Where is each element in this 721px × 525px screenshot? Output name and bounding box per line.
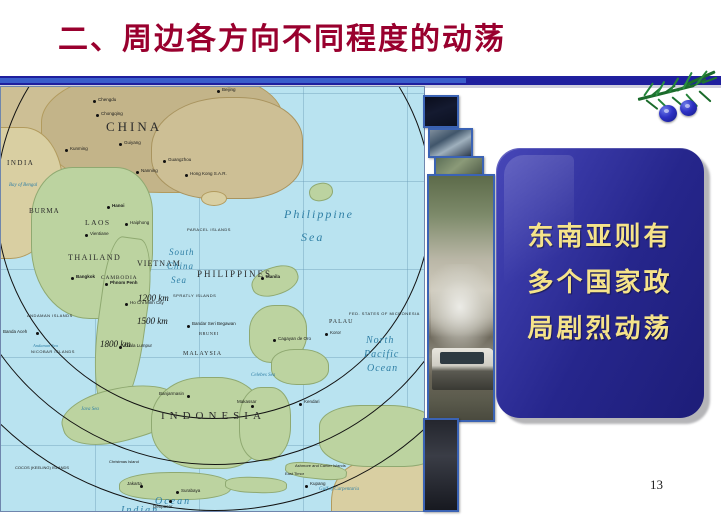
vehicle-window <box>440 352 484 364</box>
city-dot <box>71 277 74 280</box>
city-label: Makassar <box>237 399 257 404</box>
city-dot <box>185 174 188 177</box>
range-ring-1800km <box>0 86 425 511</box>
city-dot <box>107 206 110 209</box>
photo-thumbnail-1[interactable] <box>423 95 459 128</box>
city-dot <box>96 114 99 117</box>
city-dot <box>217 90 220 93</box>
sea-label-pacific: Pacific <box>364 349 399 360</box>
sea-label-andaman: Andaman Sea <box>33 343 58 348</box>
city-label: Guangzhou <box>168 157 191 162</box>
vehicle-region <box>432 348 494 390</box>
city-dot <box>187 395 190 398</box>
smoke-region <box>431 264 495 350</box>
city-dot <box>305 485 308 488</box>
island-label-paracel: PARACEL ISLANDS <box>187 227 231 232</box>
island-label-christmas: Christmas Island <box>109 459 139 464</box>
bauble-icon <box>680 100 697 116</box>
sea-label-carpentaria: Gulf of Carpentaria <box>319 487 359 492</box>
island-label-micronesia: FED. STATES OF MICRONESIA <box>349 311 420 316</box>
city-dot <box>273 339 276 342</box>
city-label: Bandar Seri Begawan <box>192 321 236 326</box>
bauble-icon <box>659 105 677 122</box>
sea-label-north: North <box>366 335 394 346</box>
photo-main-unrest[interactable] <box>427 174 495 422</box>
ring-label-1500: 1500 km <box>137 316 168 326</box>
city-dot <box>325 333 328 336</box>
island-label-spratly: SPRATLY ISLANDS <box>173 293 216 298</box>
city-label: Kendari <box>304 399 320 404</box>
callout-line-1: 东南亚则有 <box>527 214 672 260</box>
callout-line-3: 局剧烈动荡 <box>527 306 672 352</box>
city-dot <box>261 277 264 280</box>
city-label: Bangkok <box>76 274 95 279</box>
city-dot <box>119 143 122 146</box>
sea-label-philippine-2: Sea <box>301 230 324 245</box>
sea-label-celebes: Celebes Sea <box>251 373 275 378</box>
needle <box>645 99 658 110</box>
sea-label-sea: Sea <box>171 275 187 285</box>
city-dot <box>176 491 179 494</box>
city-dot <box>187 325 190 328</box>
page-title: 二、周边各方向不同程度的动荡 <box>0 6 721 66</box>
city-dot <box>125 223 128 226</box>
city-dot <box>93 100 96 103</box>
island-label-ashmore: Ashmore and Cartier Islands <box>295 463 346 468</box>
city-dot <box>136 171 139 174</box>
pine-branch-icon <box>636 78 721 136</box>
sea-label-ocean: Ocean <box>367 363 398 374</box>
sea-label-philippine-1: Philippine <box>284 207 354 222</box>
city-dot <box>169 500 172 503</box>
city-label: Jakarta <box>127 481 142 486</box>
sea-label-java: Java Sea <box>81 407 99 412</box>
island-label-east-timor: East Timor <box>285 471 304 476</box>
city-dot <box>251 405 254 408</box>
callout-box: 东南亚则有 多个国家政 局剧烈动荡 <box>496 148 704 418</box>
city-label: Vientiane <box>90 231 109 236</box>
city-label: Kupang <box>310 481 326 486</box>
accent-bar-light <box>0 78 466 83</box>
city-label: Hanoi <box>112 203 125 208</box>
sea-label-south: South <box>169 247 195 257</box>
city-dot <box>163 160 166 163</box>
city-label: Manila <box>266 274 280 279</box>
city-label: Banda Aceh <box>3 329 27 334</box>
callout-line-2: 多个国家政 <box>527 260 672 306</box>
city-label: Chengdu <box>98 97 116 102</box>
city-label: Chongqing <box>101 111 123 116</box>
city-dot <box>85 234 88 237</box>
sea-label-china: China <box>167 261 194 271</box>
needle <box>698 90 711 102</box>
city-label: Kuala Lumpur <box>124 343 152 348</box>
island-label-nicobar: NICOBAR ISLANDS <box>31 349 75 354</box>
city-label: Banjarmasin <box>159 391 184 396</box>
city-label: Surabaya <box>181 488 200 493</box>
photo-thumbnail-2[interactable] <box>428 128 473 158</box>
city-label: Haiphong <box>130 220 149 225</box>
city-dot <box>65 149 68 152</box>
city-label: Beijing <box>222 87 236 92</box>
southeast-asia-map: 1200 km 1500 km 1800 km CHINA INDIA BURM… <box>0 86 425 512</box>
city-dot <box>105 283 108 286</box>
city-dot <box>125 303 128 306</box>
page-number: 13 <box>650 477 663 493</box>
slide-canvas: 二、周边各方向不同程度的动荡 <box>0 0 721 525</box>
city-label: Ho Chi Minh City <box>130 300 164 305</box>
city-dot <box>299 403 302 406</box>
city-label: Denpasar <box>153 504 173 509</box>
city-label: Koror <box>330 330 341 335</box>
city-label: Guiyang <box>124 140 141 145</box>
city-label: Cagayan de Oro <box>278 336 311 341</box>
sea-label-bengal: Bay of Bengal <box>9 183 37 188</box>
city-label: Kunming <box>70 146 88 151</box>
city-dot <box>36 332 39 335</box>
city-label: Nanning <box>141 168 158 173</box>
photo-thumbnail-5[interactable] <box>423 418 459 512</box>
city-label: Phnom Penh <box>110 280 138 285</box>
city-dot <box>119 346 122 349</box>
island-label-cocos: COCOS (KEELING) ISLANDS <box>15 465 69 470</box>
island-label-andaman: ANDAMAN ISLANDS <box>27 313 73 318</box>
city-label: Hong Kong S.A.R. <box>190 171 227 176</box>
